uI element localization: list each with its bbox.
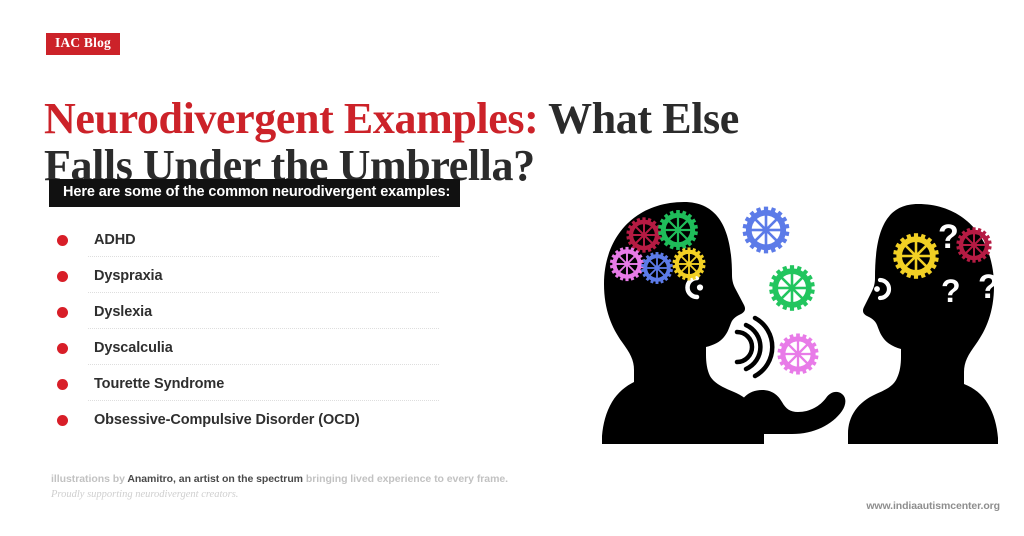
blog-banner-canvas: IAC Blog Neurodivergent Examples: What E…	[0, 0, 1024, 536]
illustration-svg: ? ? ?	[596, 192, 1008, 444]
iac-blog-badge: IAC Blog	[46, 33, 120, 55]
bullet-dot-icon	[57, 271, 68, 282]
list-item: Tourette Syndrome	[50, 366, 430, 402]
brain-gear-blue	[641, 252, 673, 284]
question-mark-icon: ?	[941, 273, 961, 309]
page-title: Neurodivergent Examples: What Else Falls…	[44, 95, 744, 189]
list-item-label: Obsessive-Compulsive Disorder (OCD)	[94, 412, 360, 428]
neurodivergent-examples-list: ADHD Dyspraxia Dyslexia Dyscalculia Tour…	[50, 222, 430, 438]
bullet-dot-icon	[57, 415, 68, 426]
list-item-label: Dyscalculia	[94, 340, 173, 356]
section-subtitle-bar: Here are some of the common neurodiverge…	[49, 179, 460, 207]
speech-wave-icon	[737, 318, 772, 376]
credit-subline: Proudly supporting neurodivergent creato…	[51, 489, 238, 500]
list-item-label: Dyspraxia	[94, 268, 162, 284]
two-heads-illustration: ? ? ?	[596, 192, 1008, 444]
list-item: Dyslexia	[50, 294, 430, 330]
list-item: Obsessive-Compulsive Disorder (OCD)	[50, 402, 430, 438]
list-item: ADHD	[50, 222, 430, 258]
brain-gear-yellow	[672, 247, 705, 280]
list-item-label: Dyslexia	[94, 304, 152, 320]
floating-gear-pink	[777, 333, 818, 374]
question-mark-icon: ?	[978, 268, 999, 306]
brain-gear-green	[658, 210, 698, 250]
brain-gear-crimson	[626, 217, 661, 252]
floating-gear-green	[769, 265, 815, 311]
open-hand-icon	[738, 390, 845, 434]
illustration-credit: illustrations by Anamitro, an artist on …	[51, 473, 508, 485]
credit-suffix: bringing lived experience to every frame…	[303, 473, 508, 485]
question-mark-icon: ?	[938, 218, 959, 256]
bullet-dot-icon	[57, 379, 68, 390]
bullet-dot-icon	[57, 307, 68, 318]
list-item: Dyscalculia	[50, 330, 430, 366]
floating-gear-blue	[743, 207, 790, 254]
credit-prefix: illustrations by	[51, 473, 127, 485]
brain-gear-pink	[610, 247, 644, 281]
listener-gear-yellow	[893, 233, 939, 279]
page-title-accent: Neurodivergent Examples:	[44, 94, 538, 143]
list-item: Dyspraxia	[50, 258, 430, 294]
listener-gear-crimson	[956, 227, 991, 262]
bullet-dot-icon	[57, 235, 68, 246]
bullet-dot-icon	[57, 343, 68, 354]
site-url: www.indiaautismcenter.org	[866, 500, 1000, 512]
list-item-label: ADHD	[94, 232, 136, 248]
credit-artist-name: Anamitro, an artist on the spectrum	[127, 473, 303, 485]
list-item-label: Tourette Syndrome	[94, 376, 224, 392]
